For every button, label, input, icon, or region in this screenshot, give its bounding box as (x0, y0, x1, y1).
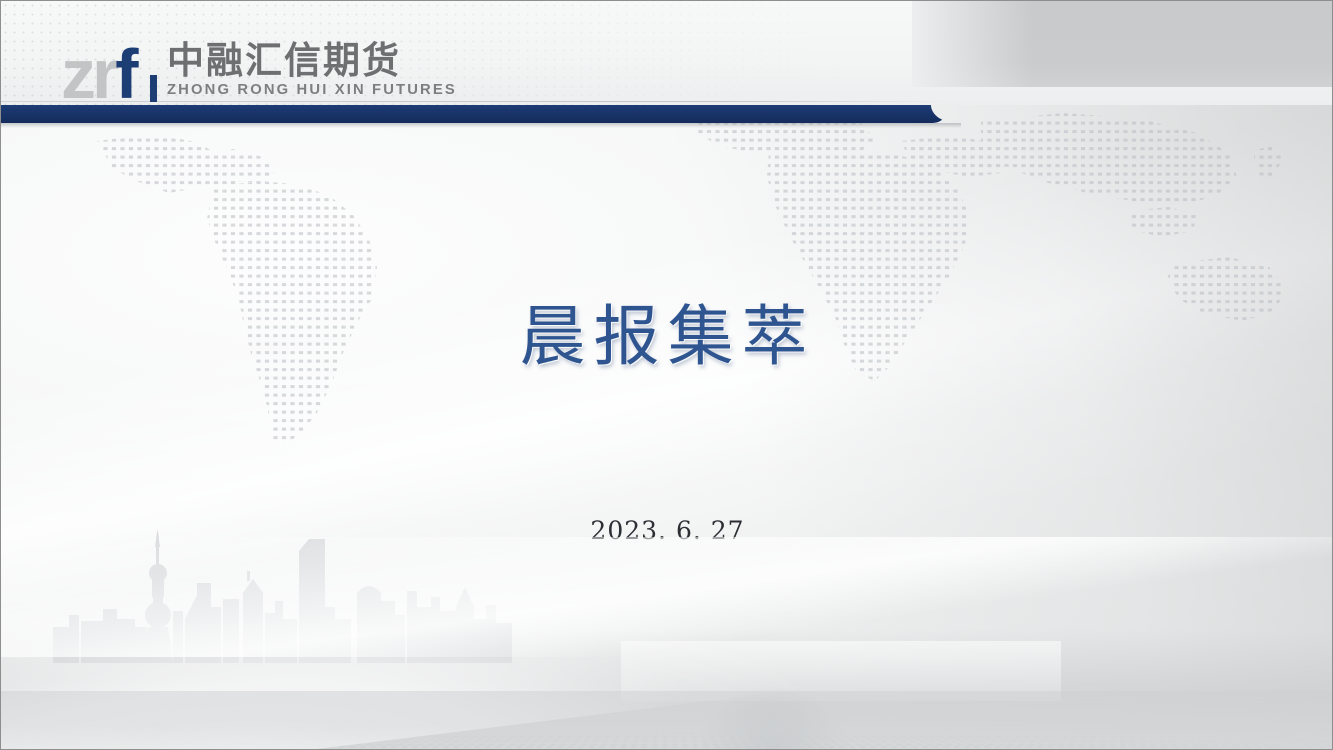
header-right-shade (912, 1, 1332, 87)
company-name-en: ZHONG RONG HUI XIN FUTURES (167, 81, 457, 99)
halftone-floor-pattern (1, 707, 1333, 749)
city-skyline-graphic (47, 523, 517, 663)
header-divider-line (1, 101, 951, 102)
logo-mark-f: f (115, 45, 134, 103)
logo-mark-zr: zr (61, 45, 115, 103)
header-accent-rule-shadow (1, 123, 961, 128)
company-name-block: 中融汇信期货 ZHONG RONG HUI XIN FUTURES (167, 41, 451, 99)
slide-title: 晨报集萃 (1, 297, 1333, 377)
logo-divider-bar (150, 75, 157, 102)
header-dot-texture (1, 1, 941, 105)
company-name-cn: 中融汇信期货 (167, 41, 451, 81)
presentation-slide: zrf 中融汇信期货 ZHONG RONG HUI XIN FUTURES 晨报… (0, 0, 1333, 750)
header-accent-rule (1, 105, 949, 123)
company-logo: zrf (61, 33, 135, 103)
